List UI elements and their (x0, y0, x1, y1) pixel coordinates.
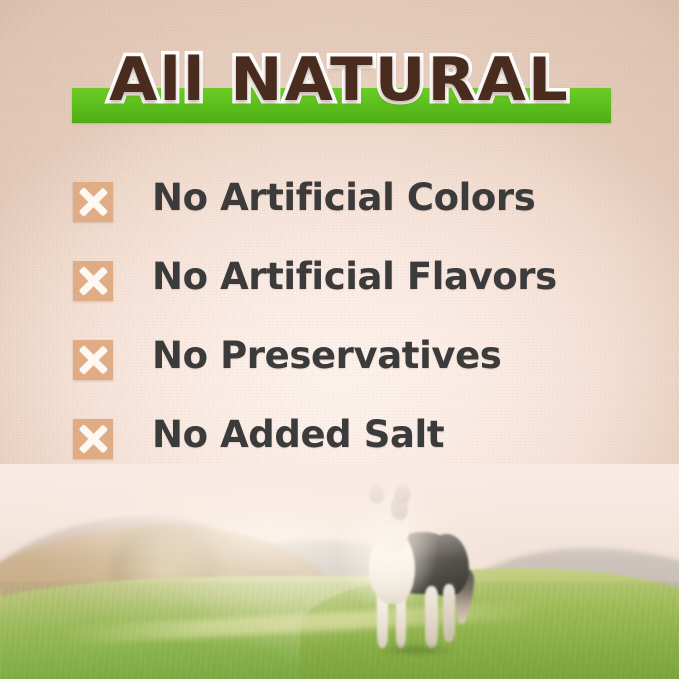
claim-row: No Artificial Flavors (0, 255, 679, 334)
dog-right-ear (393, 482, 413, 505)
claim-label: No Added Salt (152, 413, 444, 457)
dog (355, 486, 475, 654)
claim-label: No Preservatives (152, 334, 501, 378)
x-mark-icon (73, 261, 113, 301)
x-mark-icon (73, 340, 113, 380)
claim-row: No Artificial Colors (0, 176, 679, 255)
dog-ground-shadow (363, 642, 471, 658)
product-claims-poster: All NATURAL No Artificial Colors No Arti… (0, 0, 679, 679)
claim-label: No Artificial Colors (152, 176, 535, 220)
dog-back-left-leg (425, 586, 438, 648)
headline-title: All NATURAL (0, 47, 679, 113)
x-mark-icon (73, 419, 113, 459)
claims-list: No Artificial Colors No Artificial Flavo… (0, 176, 679, 492)
landscape-photo (0, 464, 679, 679)
claim-row: No Preservatives (0, 334, 679, 413)
x-mark-icon (73, 182, 113, 222)
claim-label: No Artificial Flavors (152, 255, 557, 299)
dog-back-right-leg (443, 584, 455, 642)
